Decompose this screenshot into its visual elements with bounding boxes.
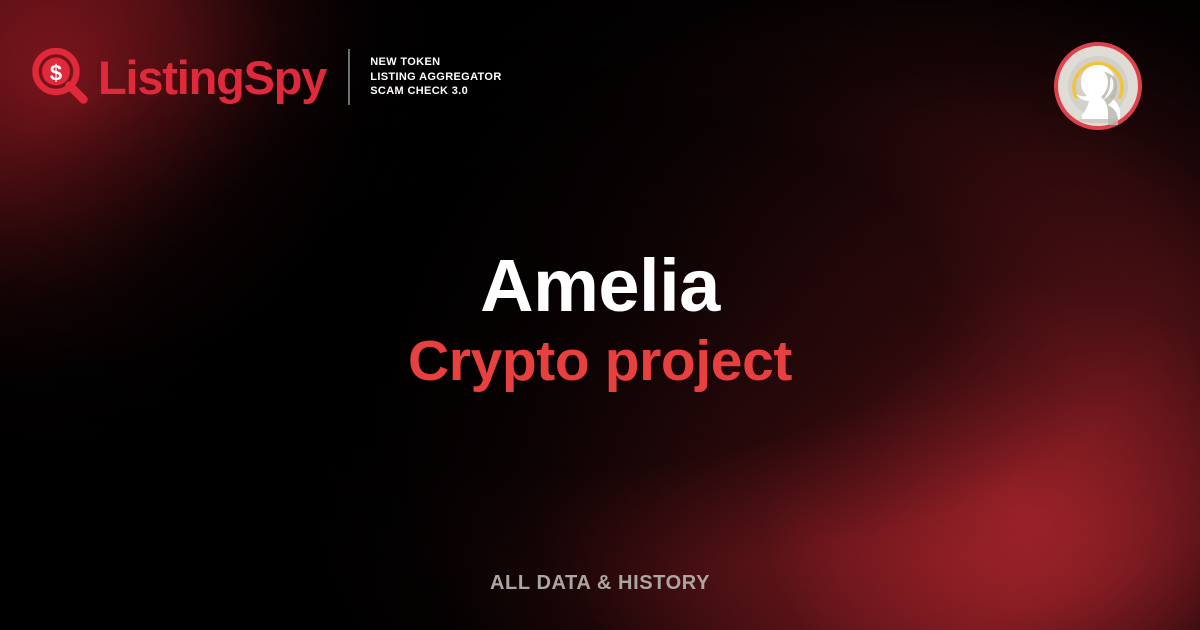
tagline-line-2: LISTING AGGREGATOR <box>370 70 501 85</box>
woman-silhouette-avatar-icon[interactable] <box>1053 41 1143 131</box>
page-subtitle: Crypto project <box>0 332 1200 392</box>
brand-tagline: NEW TOKEN LISTING AGGREGATOR SCAM CHECK … <box>370 55 501 99</box>
footer: ALL DATA & HISTORY <box>0 572 1200 595</box>
page-title: Amelia <box>0 248 1200 323</box>
brand-header[interactable]: $ ListingSpy NEW TOKEN LISTING AGGREGATO… <box>32 48 502 106</box>
hero-text-block: Amelia Crypto project <box>0 248 1200 392</box>
tagline-line-3: SCAM CHECK 3.0 <box>370 84 501 99</box>
brand-wordmark: ListingSpy <box>98 54 326 101</box>
footer-caption: ALL DATA & HISTORY <box>0 572 1200 595</box>
brand-name-part1: Listing <box>98 51 244 104</box>
svg-text:$: $ <box>50 61 62 86</box>
promo-banner: $ ListingSpy NEW TOKEN LISTING AGGREGATO… <box>0 0 1200 630</box>
tagline-line-1: NEW TOKEN <box>370 55 501 70</box>
magnifier-dollar-icon: $ <box>32 48 90 106</box>
brand-name-part2: Spy <box>244 51 327 104</box>
brand-divider <box>348 49 350 105</box>
